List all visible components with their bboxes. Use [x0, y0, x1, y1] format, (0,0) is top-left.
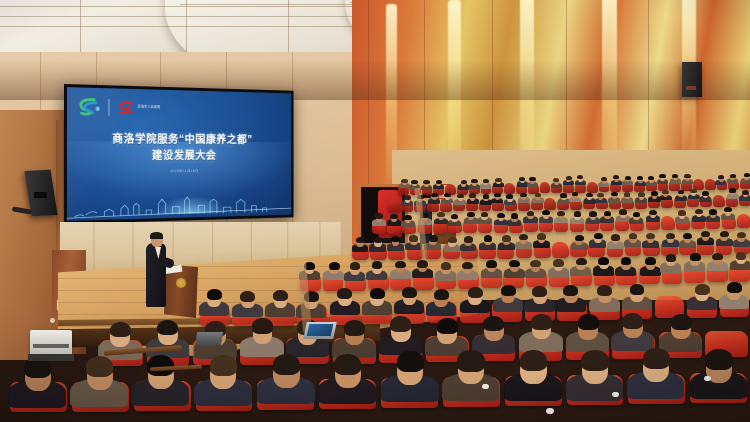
- audience-member-hair: [520, 193, 527, 197]
- audience-seating-area: [0, 170, 750, 422]
- audience-member-hair: [604, 211, 612, 216]
- audience-member-hair: [625, 176, 631, 180]
- crowd-face-mask: [546, 408, 554, 414]
- audience-member-hair: [705, 349, 732, 370]
- audience-member-hair: [457, 194, 464, 198]
- audience-member-hair: [417, 260, 428, 268]
- audience-seat: [388, 200, 400, 212]
- audience-member-hair: [557, 211, 565, 216]
- audience-member-hair: [464, 236, 473, 242]
- audience-member-hair: [374, 237, 383, 243]
- audience-member-hair: [252, 318, 273, 334]
- audience-member-hair: [690, 189, 697, 193]
- audience-member-hair: [563, 285, 578, 296]
- audience-member-hair: [509, 260, 520, 268]
- audience-member-hair: [448, 237, 457, 243]
- audience-member-hair: [437, 212, 445, 217]
- audience-member-hair: [157, 320, 178, 336]
- audience-member-hair: [537, 233, 546, 239]
- audience-member-hair: [684, 174, 690, 178]
- audience-member-hair: [730, 174, 736, 178]
- audience-member-hair: [611, 192, 618, 196]
- audience-member-hair: [484, 235, 493, 241]
- audience-member-hair: [666, 233, 675, 239]
- audience-member-hair: [390, 316, 411, 332]
- audience-member-hair: [511, 213, 519, 218]
- audience-member-hair: [451, 214, 459, 219]
- audience-member-hair: [486, 260, 497, 268]
- audience-member-hair: [622, 313, 643, 329]
- audience-member-hair: [395, 261, 406, 269]
- audience-member-hair: [586, 193, 593, 197]
- audience-member-hair: [575, 235, 584, 241]
- audience-member-hair: [629, 233, 638, 239]
- audience-member-hair: [724, 207, 732, 212]
- audience-member-hair: [502, 235, 511, 241]
- printer-stand: [28, 354, 74, 361]
- audience-member-hair: [506, 194, 513, 198]
- audience-member-hair: [646, 233, 655, 239]
- audience-member-hair: [589, 211, 597, 216]
- audience-member-hair: [683, 233, 692, 239]
- audience-member-hair: [483, 194, 490, 198]
- audience-member-hair: [638, 192, 645, 196]
- audience-member-hair: [481, 212, 489, 217]
- audience-member-hair: [436, 180, 442, 184]
- audience-member-hair: [334, 354, 361, 375]
- audience-member-hair: [709, 209, 717, 214]
- audience-member-hair: [578, 314, 599, 330]
- audience-member-hair: [666, 254, 677, 262]
- audience-seat: [661, 216, 675, 230]
- audience-member-hair: [483, 316, 504, 332]
- audience-member-hair: [553, 259, 564, 267]
- audience-member-hair: [690, 253, 701, 261]
- audience-member-hair: [468, 287, 483, 298]
- audience-member-hair: [542, 210, 550, 215]
- audience-member-hair: [744, 173, 750, 177]
- audience-member-hair: [535, 193, 542, 197]
- crowd-face-mask: [612, 392, 619, 397]
- audience-member-hair: [461, 180, 467, 184]
- audience-member-hair: [337, 288, 352, 299]
- audience-member-hair: [729, 188, 736, 192]
- audience-member-hair: [737, 232, 746, 238]
- audience-member-hair: [441, 262, 452, 270]
- audience-member-hair: [344, 320, 365, 336]
- audience-member-hair: [742, 190, 749, 194]
- audience-seat: [713, 195, 725, 207]
- audience-member-hair: [404, 215, 412, 220]
- audience-member-hair: [462, 262, 473, 270]
- audience-member-hair: [273, 290, 288, 301]
- audience-member-hair: [409, 235, 418, 241]
- audience-member-hair: [611, 234, 620, 240]
- audience-member-hair: [86, 356, 113, 377]
- audience-member-hair: [391, 236, 400, 242]
- control-laptop-secondary: [195, 332, 223, 346]
- audience-member-hair: [624, 192, 631, 196]
- audience-member-hair: [649, 210, 657, 215]
- auditorium-photograph: 商 商洛市人民政府 商洛学院服务“中国康养之都” 建设发展大会 2023年11月…: [0, 0, 750, 422]
- audience-member-hair: [210, 355, 237, 376]
- audience-member-hair: [530, 260, 541, 268]
- audience-member-hair: [471, 179, 477, 183]
- audience-member-hair: [402, 287, 417, 298]
- audience-member-hair: [645, 257, 656, 265]
- audience-member-hair: [207, 289, 222, 300]
- audience-seat: [587, 182, 598, 193]
- audience-member-hair: [601, 177, 607, 181]
- audience-member-hair: [619, 209, 627, 214]
- audience-member-hair: [401, 179, 407, 183]
- audience-member-hair: [370, 288, 385, 299]
- audience-member-hair: [581, 350, 608, 371]
- audience-member-hair: [720, 231, 729, 237]
- audience-member-hair: [727, 282, 742, 293]
- audience-member-hair: [469, 193, 476, 197]
- audience-member-hair: [659, 174, 665, 178]
- crowd-face-mask: [704, 376, 711, 381]
- audience-member-hair: [356, 237, 365, 243]
- audience-member-hair: [597, 285, 612, 296]
- audience-member-hair: [527, 211, 535, 216]
- audience-member-hair: [273, 354, 300, 375]
- audience-member-hair: [397, 351, 424, 372]
- audience-member-hair: [633, 212, 641, 217]
- audience-member-hair: [598, 257, 609, 265]
- audience-member-hair: [390, 214, 398, 219]
- audience-member-hair: [637, 176, 643, 180]
- audience-member-hair: [662, 190, 669, 194]
- audience-member-hair: [651, 191, 658, 195]
- audience-member-hair: [560, 193, 567, 197]
- crowd-face-mask: [482, 384, 489, 389]
- audience-member-hair: [240, 291, 255, 302]
- right-loudspeaker-grille: [686, 86, 696, 90]
- audience-member-hair: [643, 348, 670, 369]
- audience-member-hair: [411, 180, 417, 184]
- audience-member-hair: [429, 235, 438, 241]
- audience-member-hair: [531, 314, 552, 330]
- audience-member-hair: [375, 213, 383, 218]
- audience-member-hair: [529, 177, 535, 181]
- audience-member-hair: [695, 284, 710, 295]
- audience-member-hair: [630, 284, 645, 295]
- audience-member-hair: [372, 261, 383, 269]
- audience-member-hair: [431, 193, 438, 197]
- audience-seat: [504, 183, 515, 194]
- audience-member-hair: [483, 179, 489, 183]
- audience-member-hair: [520, 350, 547, 371]
- audience-member-hair: [423, 180, 429, 184]
- audience-member-hair: [566, 176, 572, 180]
- audience-member-hair: [467, 212, 475, 217]
- audience-member-hair: [671, 314, 692, 330]
- audience-seat: [540, 182, 551, 193]
- audience-member-hair: [519, 234, 528, 240]
- printer-paper-slot: [33, 344, 69, 348]
- audience-member-hair: [519, 177, 525, 181]
- audience-seat: [737, 214, 750, 228]
- audience-member-hair: [501, 285, 516, 296]
- audience-member-hair: [553, 178, 559, 182]
- right-wall-loudspeaker-icon: [682, 62, 702, 97]
- audience-member-hair: [437, 318, 458, 334]
- audience-member-hair: [695, 209, 703, 214]
- audience-member-hair: [736, 252, 747, 260]
- audience-seat: [544, 198, 556, 210]
- audience-seat: [705, 179, 716, 190]
- audience-member-hair: [572, 192, 579, 196]
- audience-member-hair: [444, 193, 451, 197]
- audience-member-hair: [350, 262, 361, 270]
- audience-member-hair: [495, 178, 501, 182]
- audience-member-hair: [702, 191, 709, 195]
- audience-member-hair: [597, 193, 604, 197]
- audience-member-hair: [110, 322, 131, 338]
- audience-member-hair: [404, 195, 411, 199]
- audience-member-hair: [494, 193, 501, 197]
- audience-seat: [552, 242, 569, 258]
- audience-member-hair: [329, 262, 340, 270]
- audience-member-hair: [678, 210, 686, 215]
- audience-member-hair: [497, 213, 505, 218]
- audience-member-hair: [712, 253, 723, 261]
- audience-member-hair: [457, 350, 484, 371]
- audience-member-hair: [621, 257, 632, 265]
- av-printer-unit: [30, 330, 72, 356]
- audience-member-hair: [576, 258, 587, 266]
- control-laptop-primary-screen: [307, 324, 334, 336]
- audience-member-hair: [701, 231, 710, 237]
- audience-member-hair: [594, 233, 603, 239]
- audience-member-hair: [434, 289, 449, 300]
- audience-member-hair: [574, 211, 582, 216]
- audience-member-hair: [672, 174, 678, 178]
- audience-member-hair: [532, 286, 547, 297]
